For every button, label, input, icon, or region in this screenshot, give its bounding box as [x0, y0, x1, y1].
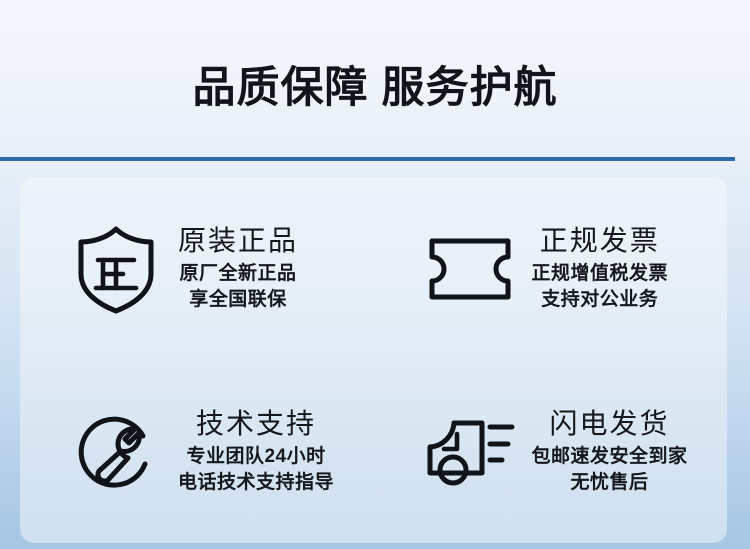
- feature-line: 无忧售后: [571, 470, 649, 496]
- delivery-truck-icon: [422, 404, 518, 500]
- feature-line: 正规增值税发票: [532, 261, 669, 287]
- feature-line: 原厂全新正品: [180, 261, 297, 287]
- feature-text: 技术支持 专业团队24小时 电话技术支持指导: [178, 407, 334, 496]
- feature-text: 闪电发货 包邮速发安全到家 无忧售后: [532, 407, 688, 496]
- quality-guarantee-banner: 品质保障 服务护航 原装正品: [0, 0, 750, 549]
- feature-title: 闪电发货: [550, 407, 670, 441]
- feature-line: 享全国联保: [189, 287, 287, 313]
- feature-title: 正规发票: [540, 224, 660, 258]
- page-title: 品质保障 服务护航: [0, 63, 750, 113]
- feature-text: 原装正品 原厂全新正品 享全国联保: [178, 224, 298, 313]
- feature-item-original-product: 原装正品 原厂全新正品 享全国联保: [20, 177, 374, 360]
- features-card: 原装正品 原厂全新正品 享全国联保 正规发票 正规增值税发票 支持对公业务: [20, 177, 727, 543]
- feature-line: 电话技术支持指导: [178, 470, 334, 496]
- feature-line: 包邮速发安全到家: [532, 444, 688, 470]
- feature-text: 正规发票 正规增值税发票 支持对公业务: [532, 224, 669, 313]
- shield-zheng-icon: [68, 221, 164, 317]
- feature-item-invoice: 正规发票 正规增值税发票 支持对公业务: [374, 177, 728, 360]
- banner-header: 品质保障 服务护航: [0, 0, 750, 158]
- features-grid: 原装正品 原厂全新正品 享全国联保 正规发票 正规增值税发票 支持对公业务: [20, 177, 727, 543]
- feature-line: 支持对公业务: [541, 287, 658, 313]
- wrench-circle-icon: [68, 404, 164, 500]
- invoice-ticket-icon: [422, 221, 518, 317]
- feature-title: 原装正品: [178, 224, 298, 258]
- feature-title: 技术支持: [196, 407, 316, 441]
- feature-item-tech-support: 技术支持 专业团队24小时 电话技术支持指导: [20, 360, 374, 543]
- feature-item-fast-shipping: 闪电发货 包邮速发安全到家 无忧售后: [374, 360, 728, 543]
- header-divider: [0, 157, 735, 161]
- feature-line: 专业团队24小时: [186, 444, 325, 470]
